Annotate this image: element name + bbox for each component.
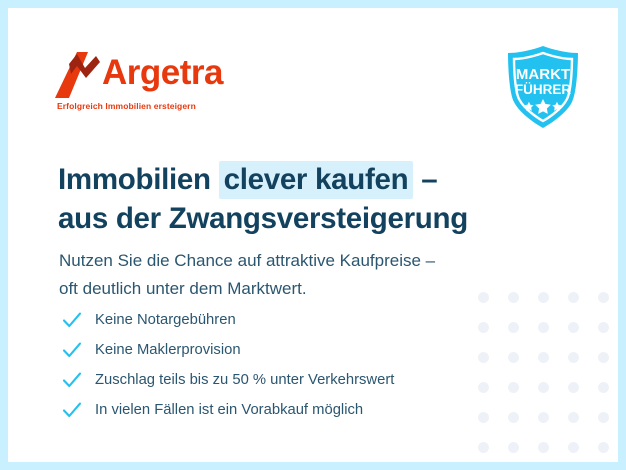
decorative-dot (568, 412, 579, 423)
argetra-logo[interactable]: Argetra Erfolgreich Immobilien ersteiger… (55, 50, 255, 102)
page-title: Immobilien clever kaufen – aus der Zwang… (58, 160, 468, 238)
decorative-dot (538, 292, 549, 303)
decorative-dot (508, 412, 519, 423)
decorative-dot (508, 352, 519, 363)
decorative-dot (478, 322, 489, 333)
decorative-dot (598, 352, 609, 363)
decorative-dot (508, 292, 519, 303)
banner-card: Argetra Erfolgreich Immobilien ersteiger… (8, 8, 618, 462)
badge-line2: FÜHRER (515, 82, 571, 97)
decorative-dot (598, 292, 609, 303)
headline-text-before: Immobilien (58, 163, 219, 196)
decorative-dot (538, 382, 549, 393)
list-item: Keine Notargebühren (61, 305, 394, 335)
logo-tagline: Erfolgreich Immobilien ersteigern (57, 101, 196, 111)
argetra-a-roof-logo-icon (55, 50, 101, 105)
list-item: Keine Maklerprovision (61, 335, 394, 365)
decorative-dot (538, 322, 549, 333)
decorative-dot (478, 382, 489, 393)
decorative-dot (478, 352, 489, 363)
decorative-dot (478, 442, 489, 453)
decorative-dot (568, 292, 579, 303)
benefits-list: Keine Notargebühren Keine Maklerprovisio… (61, 305, 394, 425)
check-icon (61, 369, 83, 391)
decorative-dot (568, 382, 579, 393)
list-item-label: Zuschlag teils bis zu 50 % unter Verkehr… (95, 373, 394, 388)
decorative-dot (568, 322, 579, 333)
decorative-dot (598, 322, 609, 333)
decorative-dot (538, 442, 549, 453)
decorative-dot (538, 352, 549, 363)
shield-badge-icon: MARKT FÜHRER (500, 44, 586, 130)
decorative-dot (598, 382, 609, 393)
list-item-label: Keine Notargebühren (95, 313, 236, 328)
subheadline-line-1: Nutzen Sie die Chance auf attraktive Kau… (59, 251, 435, 270)
subheadline: Nutzen Sie die Chance auf attraktive Kau… (59, 247, 435, 302)
headline-line-1: Immobilien clever kaufen – (58, 161, 437, 199)
check-icon (61, 339, 83, 361)
decorative-dot (568, 442, 579, 453)
list-item: Zuschlag teils bis zu 50 % unter Verkehr… (61, 365, 394, 395)
decorative-dot (508, 442, 519, 453)
decorative-dot (478, 292, 489, 303)
decorative-dot (598, 442, 609, 453)
list-item-label: In vielen Fällen ist ein Vorabkauf mögli… (95, 403, 363, 418)
check-icon (61, 399, 83, 421)
headline-line-2: aus der Zwangsversteigerung (58, 202, 468, 235)
headline-highlight: clever kaufen (219, 161, 414, 199)
badge-line1: MARKT (516, 66, 570, 83)
decorative-dot (598, 412, 609, 423)
decorative-dot (508, 382, 519, 393)
logo-wordmark: Argetra (102, 55, 223, 90)
headline-text-after: – (413, 163, 437, 196)
decorative-dot-grid (488, 287, 618, 462)
check-icon (61, 309, 83, 331)
decorative-dot (538, 412, 549, 423)
subheadline-line-2: oft deutlich unter dem Marktwert. (59, 279, 307, 298)
markt-fuehrer-badge: MARKT FÜHRER (500, 44, 586, 130)
logo-mark-row: Argetra (55, 50, 255, 102)
decorative-dot (568, 352, 579, 363)
list-item-label: Keine Maklerprovision (95, 343, 241, 358)
list-item: In vielen Fällen ist ein Vorabkauf mögli… (61, 395, 394, 425)
decorative-dot (478, 412, 489, 423)
decorative-dot (508, 322, 519, 333)
promo-banner: Argetra Erfolgreich Immobilien ersteiger… (0, 0, 626, 470)
